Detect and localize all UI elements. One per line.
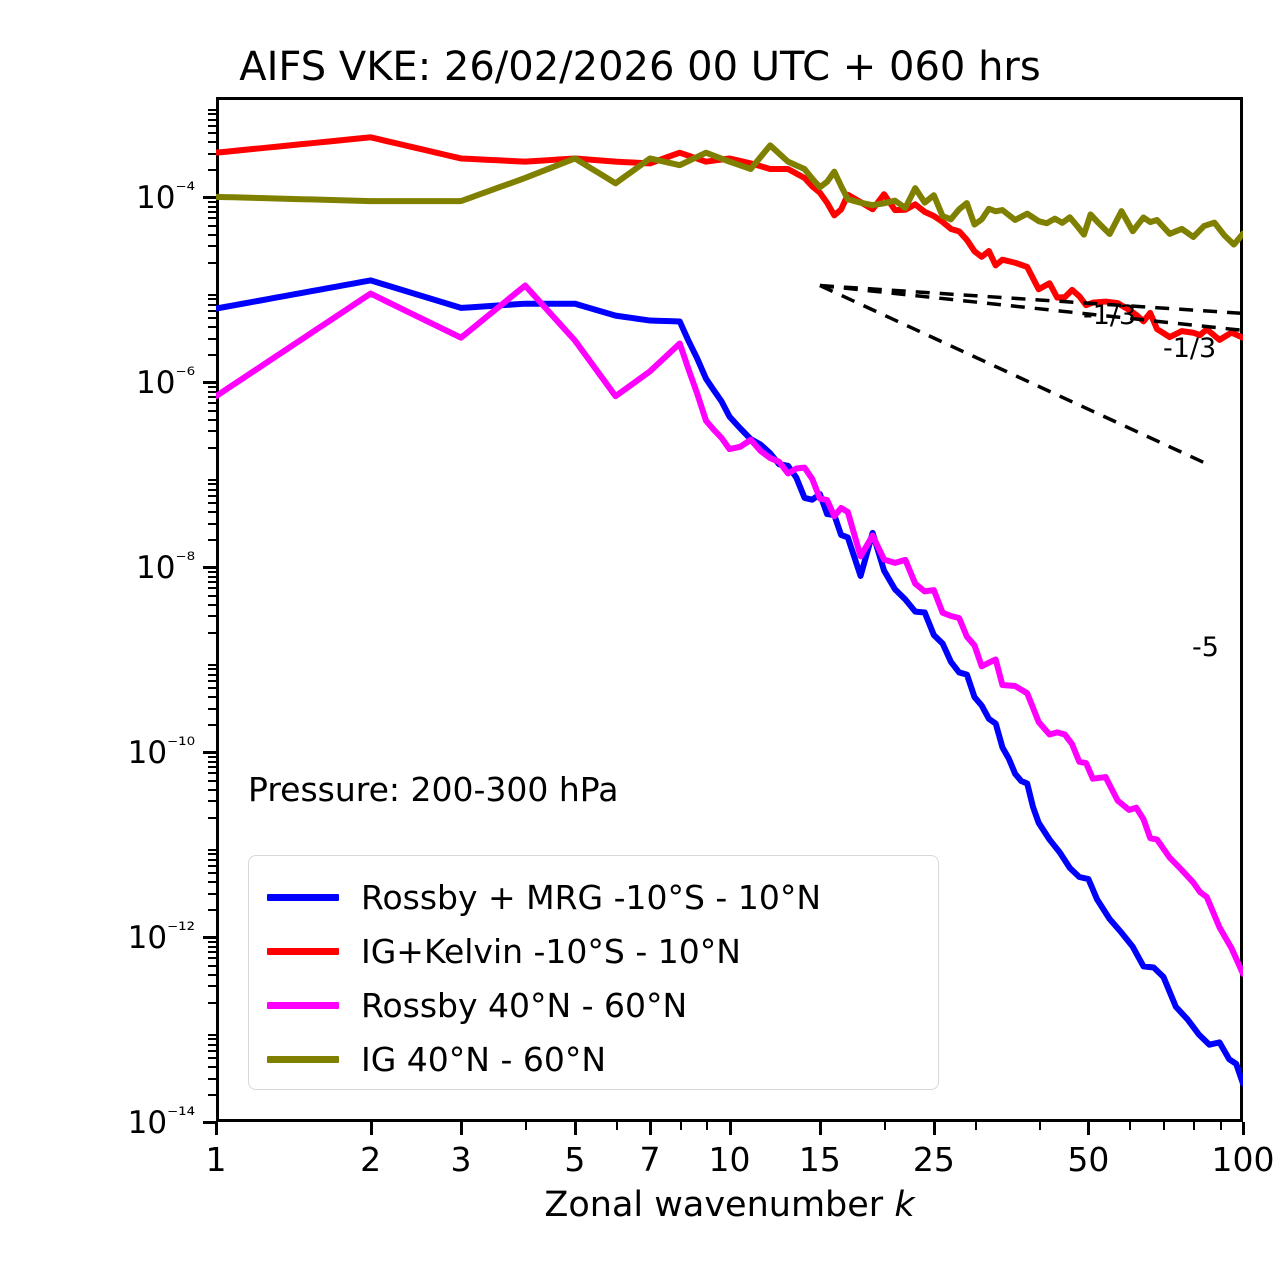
y-minor-tick [208, 800, 216, 802]
y-minor-tick [208, 615, 216, 617]
y-minor-tick [208, 766, 216, 768]
x-tick-label: 100 [1198, 1140, 1280, 1179]
x-minor-tick [1039, 1122, 1041, 1130]
y-minor-tick [208, 479, 216, 481]
legend-item-3[interactable]: IG 40°N - 60°N [249, 1032, 938, 1086]
y-minor-tick [208, 941, 216, 943]
y-minor-tick [208, 951, 216, 953]
y-minor-tick [208, 502, 216, 504]
y-minor-tick [208, 780, 216, 782]
y-minor-tick [208, 298, 216, 300]
y-minor-tick [208, 581, 216, 583]
y-minor-tick [208, 1038, 216, 1040]
y-minor-tick [208, 957, 216, 959]
y-minor-tick [208, 909, 216, 911]
y-tick-mark [203, 196, 216, 199]
y-tick-label: 10⁻¹² [75, 918, 195, 956]
y-minor-tick [208, 391, 216, 393]
y-minor-tick [208, 595, 216, 597]
y-minor-tick [208, 211, 216, 213]
x-minor-tick [1220, 1122, 1222, 1130]
y-minor-tick [208, 761, 216, 763]
x-minor-tick [680, 1122, 682, 1130]
y-minor-tick [208, 632, 216, 634]
legend-label: IG 40°N - 60°N [361, 1040, 606, 1079]
y-minor-tick [208, 109, 216, 111]
y-minor-tick [208, 317, 216, 319]
x-minor-tick [1163, 1122, 1165, 1130]
y-minor-tick [208, 1078, 216, 1080]
y-tick-mark [203, 381, 216, 384]
y-minor-tick [208, 696, 216, 698]
page-title: AIFS VKE: 26/02/2026 00 UTC + 060 hrs [0, 44, 1280, 90]
y-minor-tick [208, 447, 216, 449]
y-tick-label: 10⁻⁶ [75, 363, 195, 401]
y-minor-tick [208, 310, 216, 312]
y-minor-tick [208, 724, 216, 726]
y-minor-tick [208, 965, 216, 967]
y-minor-tick [208, 539, 216, 541]
x-tick-mark [819, 1122, 822, 1135]
y-minor-tick [208, 119, 216, 121]
x-minor-tick [884, 1122, 886, 1130]
slope-label-3: -5 [1192, 632, 1219, 663]
y-minor-tick [208, 772, 216, 774]
y-minor-tick [208, 789, 216, 791]
y-minor-tick [208, 169, 216, 171]
x-minor-tick [616, 1122, 618, 1130]
x-minor-tick [706, 1122, 708, 1130]
x-minor-tick [975, 1122, 977, 1130]
x-tick-mark [1087, 1122, 1090, 1135]
y-minor-tick [208, 817, 216, 819]
x-tick-label: 15 [775, 1140, 865, 1179]
y-minor-tick [208, 234, 216, 236]
y-minor-tick [208, 225, 216, 227]
y-minor-tick [208, 1044, 216, 1046]
legend-item-1[interactable]: IG+Kelvin -10°S - 10°N [249, 924, 938, 978]
x-tick-mark [215, 1122, 218, 1135]
y-minor-tick [208, 849, 216, 851]
x-tick-label: 50 [1043, 1140, 1133, 1179]
legend-color-swatch [267, 894, 339, 901]
legend-color-swatch [267, 1002, 339, 1009]
x-tick-mark [933, 1122, 936, 1135]
y-minor-tick [208, 125, 216, 127]
y-minor-tick [208, 668, 216, 670]
y-minor-tick [208, 1034, 216, 1036]
y-minor-tick [208, 604, 216, 606]
y-minor-tick [208, 262, 216, 264]
legend-label: Rossby + MRG -10°S - 10°N [361, 878, 821, 917]
y-minor-tick [208, 489, 216, 491]
y-axis-label-container: Vertical kinetic energy (Pa/s)2 [0, 0, 60, 1288]
y-minor-tick [208, 294, 216, 296]
x-tick-label: 2 [326, 1140, 416, 1179]
y-minor-tick [208, 410, 216, 412]
y-minor-tick [208, 201, 216, 203]
slope-label-2: -1/3 [1163, 333, 1216, 364]
y-minor-tick [208, 113, 216, 115]
legend-item-0[interactable]: Rossby + MRG -10°S - 10°N [249, 870, 938, 924]
y-minor-tick [208, 708, 216, 710]
x-tick-mark [370, 1122, 373, 1135]
y-minor-tick [208, 402, 216, 404]
y-tick-label: 10⁻¹⁴ [75, 1103, 195, 1141]
y-minor-tick [208, 430, 216, 432]
slope-label-1: -1/3 [1083, 300, 1136, 331]
y-minor-tick [208, 1094, 216, 1096]
x-axis-label: Zonal wavenumber k [216, 1185, 1243, 1225]
y-minor-tick [208, 511, 216, 513]
y-minor-tick [208, 206, 216, 208]
y-minor-tick [208, 132, 216, 134]
pressure-annotation: Pressure: 200-300 hPa [248, 770, 618, 809]
y-minor-tick [208, 756, 216, 758]
x-tick-mark [574, 1122, 577, 1135]
x-tick-label: 10 [685, 1140, 775, 1179]
y-minor-tick [208, 495, 216, 497]
y-tick-mark [203, 751, 216, 754]
y-minor-tick [208, 338, 216, 340]
y-minor-tick [208, 386, 216, 388]
y-minor-tick [208, 1057, 216, 1059]
series-line [216, 145, 1243, 244]
y-minor-tick [208, 893, 216, 895]
y-minor-tick [208, 680, 216, 682]
y-minor-tick [208, 304, 216, 306]
y-minor-tick [208, 217, 216, 219]
reference-line [820, 286, 1243, 314]
y-minor-tick [208, 946, 216, 948]
chart-root: AIFS VKE: 26/02/2026 00 UTC + 060 hrs Ve… [0, 0, 1280, 1288]
y-minor-tick [208, 674, 216, 676]
y-minor-tick [208, 141, 216, 143]
y-minor-tick [208, 1050, 216, 1052]
y-minor-tick [208, 881, 216, 883]
y-tick-mark [203, 566, 216, 569]
y-minor-tick [208, 587, 216, 589]
x-tick-label: 7 [605, 1140, 695, 1179]
legend: Rossby + MRG -10°S - 10°NIG+Kelvin -10°S… [248, 855, 939, 1090]
legend-label: IG+Kelvin -10°S - 10°N [361, 932, 741, 971]
y-minor-tick [208, 985, 216, 987]
y-minor-tick [208, 865, 216, 867]
y-minor-tick [208, 326, 216, 328]
y-minor-tick [208, 1066, 216, 1068]
x-tick-label: 1 [171, 1140, 261, 1179]
y-minor-tick [208, 687, 216, 689]
legend-color-swatch [267, 1056, 339, 1063]
y-minor-tick [208, 523, 216, 525]
y-minor-tick [208, 396, 216, 398]
x-minor-tick [525, 1122, 527, 1130]
legend-color-swatch [267, 948, 339, 955]
x-tick-mark [729, 1122, 732, 1135]
y-tick-label: 10⁻⁴ [75, 178, 195, 216]
legend-label: Rossby 40°N - 60°N [361, 986, 687, 1025]
x-tick-mark [649, 1122, 652, 1135]
y-tick-mark [203, 936, 216, 939]
y-minor-tick [208, 245, 216, 247]
y-minor-tick [208, 153, 216, 155]
y-minor-tick [208, 419, 216, 421]
y-minor-tick [208, 576, 216, 578]
y-minor-tick [208, 571, 216, 573]
x-axis-label-text: Zonal wavenumber [544, 1185, 894, 1225]
y-minor-tick [208, 354, 216, 356]
y-tick-label: 10⁻¹⁰ [75, 733, 195, 771]
y-minor-tick [208, 853, 216, 855]
y-minor-tick [208, 1002, 216, 1004]
y-minor-tick [208, 859, 216, 861]
x-axis-label-italic: k [894, 1185, 914, 1225]
y-minor-tick [208, 974, 216, 976]
x-minor-tick [1129, 1122, 1131, 1130]
x-tick-label: 3 [416, 1140, 506, 1179]
y-tick-label: 10⁻⁸ [75, 548, 195, 586]
x-tick-mark [460, 1122, 463, 1135]
y-minor-tick [208, 483, 216, 485]
y-minor-tick [208, 664, 216, 666]
y-minor-tick [208, 872, 216, 874]
x-tick-label: 25 [889, 1140, 979, 1179]
x-tick-mark [1242, 1122, 1245, 1135]
x-minor-tick [1193, 1122, 1195, 1130]
legend-item-2[interactable]: Rossby 40°N - 60°N [249, 978, 938, 1032]
